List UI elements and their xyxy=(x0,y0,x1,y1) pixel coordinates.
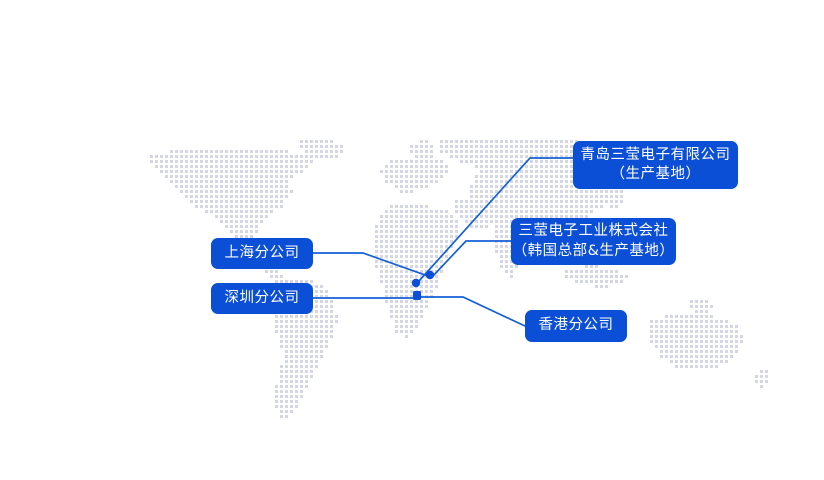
connector-korea xyxy=(432,241,511,277)
label-hongkong[interactable]: 香港分公司 xyxy=(525,310,627,342)
marker-korea[interactable] xyxy=(412,279,420,287)
map-canvas: 青岛三莹电子有限公司 （生产基地） 三莹电子工业株式会社 （韩国总部&生产基地）… xyxy=(0,0,824,480)
label-qingdao-line1: 青岛三莹电子有限公司 xyxy=(581,146,731,165)
label-qingdao[interactable]: 青岛三莹电子有限公司 （生产基地） xyxy=(573,141,738,189)
label-korea[interactable]: 三莹电子工业株式会社 （韩国总部&生产基地） xyxy=(511,218,676,265)
marker-qingdao[interactable] xyxy=(426,271,434,279)
label-korea-line2: （韩国总部&生产基地） xyxy=(513,242,675,261)
label-shenzhen-line1: 深圳分公司 xyxy=(225,289,300,308)
label-hongkong-line1: 香港分公司 xyxy=(539,316,614,335)
label-shanghai-line1: 上海分公司 xyxy=(225,244,300,263)
connector-hongkong xyxy=(417,297,525,326)
label-korea-line1: 三莹电子工业株式会社 xyxy=(519,222,669,241)
connector-shanghai xyxy=(313,253,428,276)
location-markers xyxy=(412,271,434,300)
label-shenzhen[interactable]: 深圳分公司 xyxy=(211,283,313,314)
label-shanghai[interactable]: 上海分公司 xyxy=(211,238,313,269)
label-qingdao-line2: （生产基地） xyxy=(611,165,701,184)
marker-shenzhen[interactable] xyxy=(413,291,421,300)
connector-lines-layer xyxy=(0,0,824,480)
